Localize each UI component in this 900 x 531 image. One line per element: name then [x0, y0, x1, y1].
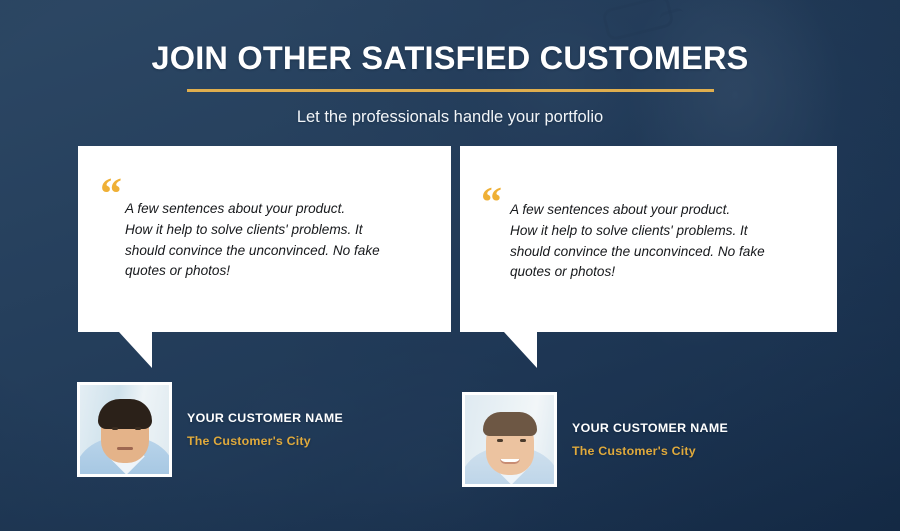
author-text-block: YOUR CUSTOMER NAME The Customer's City [572, 421, 728, 458]
avatar-hair [483, 412, 537, 436]
testimonials-slide: JOIN OTHER SATISFIED CUSTOMERS Let the p… [0, 0, 900, 531]
quote-open-icon: “ [481, 182, 502, 224]
testimonial-card-1: “ A few sentences about your product. Ho… [78, 146, 451, 332]
avatar [77, 382, 172, 477]
testimonial-quote-2: A few sentences about your product. How … [510, 200, 810, 283]
author-name: YOUR CUSTOMER NAME [187, 411, 343, 425]
slide-header: JOIN OTHER SATISFIED CUSTOMERS Let the p… [0, 0, 900, 127]
author-text-block: YOUR CUSTOMER NAME The Customer's City [187, 411, 343, 448]
avatar [462, 392, 557, 487]
testimonial-author-1: YOUR CUSTOMER NAME The Customer's City [77, 382, 343, 477]
page-subtitle: Let the professionals handle your portfo… [0, 92, 900, 128]
author-city: The Customer's City [572, 444, 728, 458]
author-name: YOUR CUSTOMER NAME [572, 421, 728, 435]
avatar-eye-right [520, 439, 526, 442]
page-title: JOIN OTHER SATISFIED CUSTOMERS [0, 0, 900, 75]
avatar-eye-right [135, 427, 141, 430]
testimonial-card-2-tail [504, 332, 537, 368]
testimonial-quote-1: A few sentences about your product. How … [125, 199, 425, 282]
avatar-eye-left [112, 427, 118, 430]
avatar-eye-left [497, 439, 503, 442]
testimonial-card-1-tail [119, 332, 152, 368]
avatar-mouth [500, 459, 520, 464]
author-city: The Customer's City [187, 434, 343, 448]
avatar-mouth [117, 447, 133, 450]
avatar-hair [98, 399, 152, 429]
quote-open-icon: “ [100, 172, 122, 216]
testimonial-card-2: “ A few sentences about your product. Ho… [460, 146, 837, 332]
testimonial-author-2: YOUR CUSTOMER NAME The Customer's City [462, 392, 728, 487]
